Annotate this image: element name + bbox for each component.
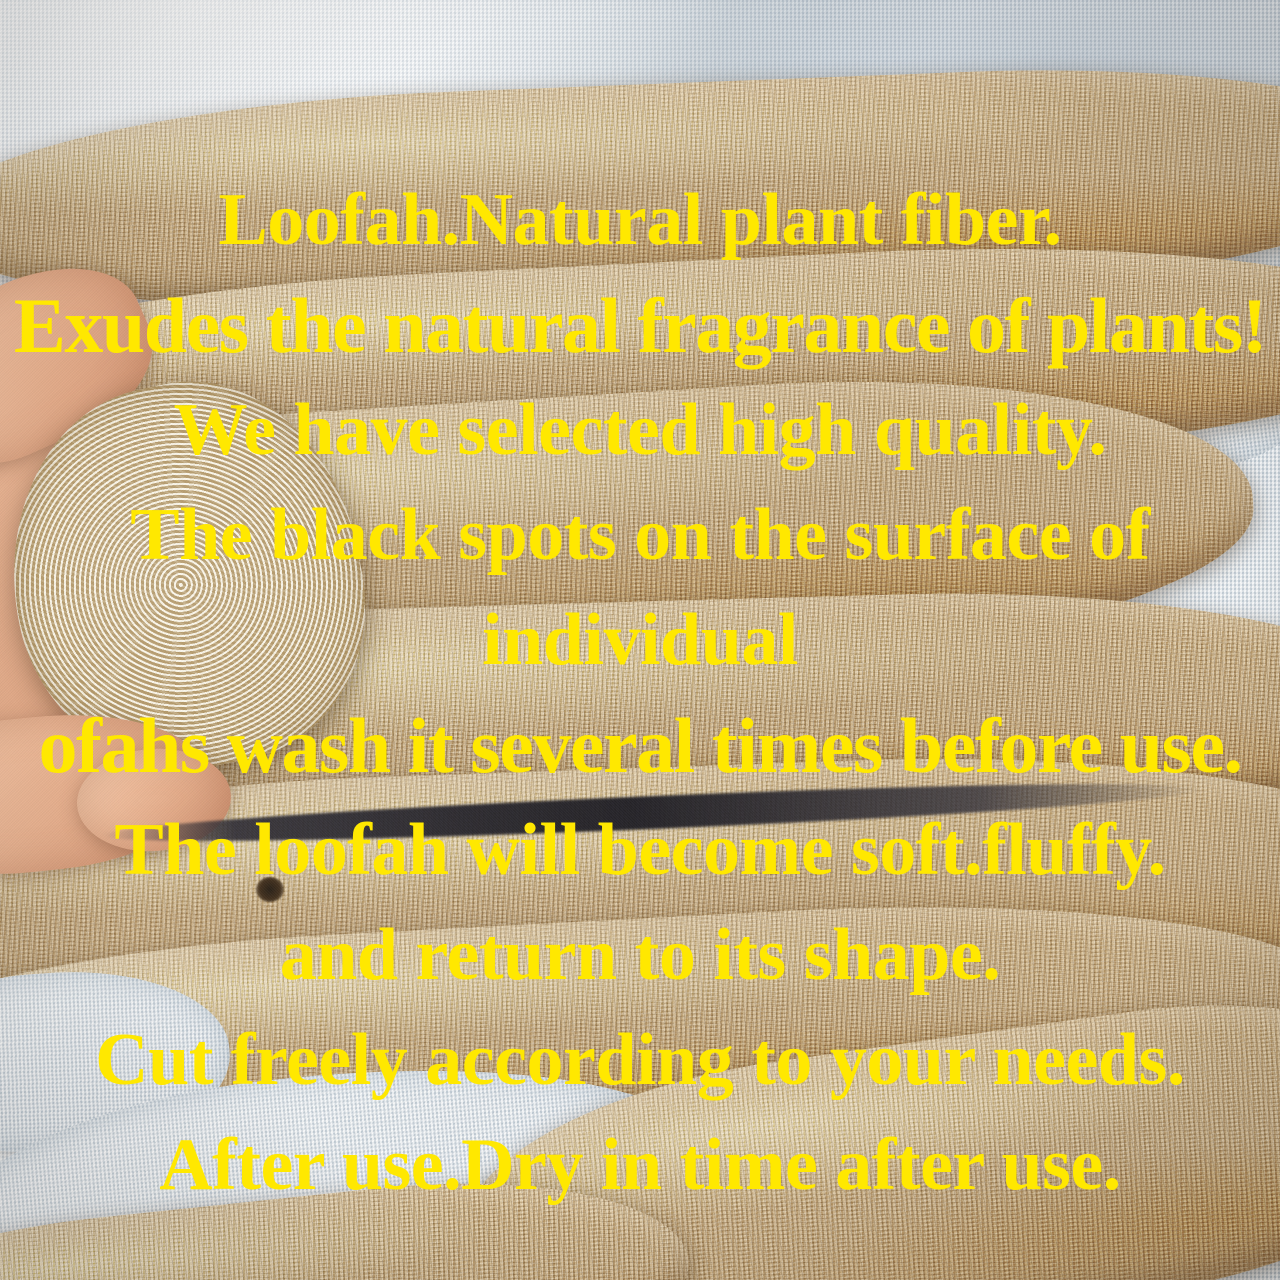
caption-line-3: We have selected high quality. [0, 378, 1280, 483]
caption-line-6: ofahs wash it several times before use. [0, 693, 1280, 798]
caption-line-1: Loofah.Natural plant fiber. [0, 168, 1280, 273]
product-photo-with-caption: Loofah.Natural plant fiber. Exudes the n… [0, 0, 1280, 1280]
caption-line-7: The loofah will become soft.fluffy. [0, 798, 1280, 903]
caption-line-2: Exudes the natural fragrance of plants! [0, 273, 1280, 378]
caption-line-4: The black spots on the surface of [0, 483, 1280, 588]
caption-line-10: After use.Dry in time after use. [0, 1113, 1280, 1218]
caption-overlay: Loofah.Natural plant fiber. Exudes the n… [0, 0, 1280, 1280]
caption-line-8: and return to its shape. [0, 903, 1280, 1008]
caption-line-9: Cut freely according to your needs. [0, 1008, 1280, 1113]
caption-line-5: individual [0, 588, 1280, 693]
